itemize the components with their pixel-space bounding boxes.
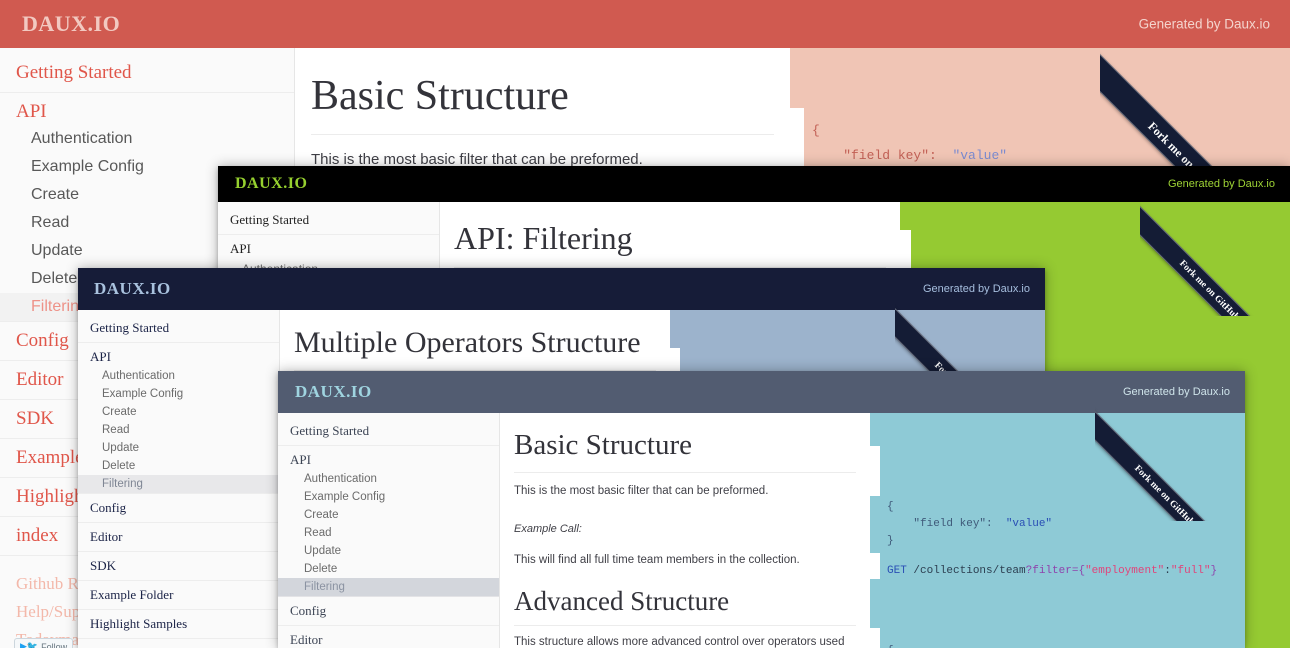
content-slate: Basic Structure This is the most basic f…: [500, 413, 870, 648]
code-line: "field key": "value": [887, 518, 1052, 530]
sidebar-label: Delete: [304, 563, 337, 575]
brand-text: DAUX.IO: [22, 11, 120, 36]
sidebar-label: Create: [304, 509, 339, 521]
sidebar-item-api[interactable]: API: [0, 93, 294, 125]
page-title: Basic Structure: [295, 48, 790, 134]
page-subtitle: Advanced Structure: [500, 566, 870, 625]
sidebar-label: API: [16, 101, 47, 122]
sidebar-label: Config: [290, 603, 326, 618]
sidebar-item-index[interactable]: index: [78, 639, 279, 648]
brand-text: DAUX.IO: [295, 382, 372, 401]
header-bar-slate: DAUX.IO Generated by Daux.io: [278, 371, 1245, 413]
sidebar-item-authentication[interactable]: Authentication: [0, 125, 294, 153]
code-rail-slate: { "field key": "value" } GET /collection…: [870, 413, 1245, 648]
code-line: }: [887, 535, 894, 547]
sidebar-label: Getting Started: [290, 423, 369, 438]
code-line: {: [887, 501, 894, 513]
sidebar-item-create[interactable]: Create: [78, 403, 279, 421]
sidebar-label: Delete: [31, 270, 77, 287]
sidebar-label: index: [16, 525, 58, 546]
header-bar-red: DAUX.IO Generated by Daux.io: [0, 0, 1290, 48]
sidebar-item-editor[interactable]: Editor: [278, 626, 499, 648]
sidebar-item-delete[interactable]: Delete: [278, 560, 499, 578]
sidebar-label: Read: [304, 527, 332, 539]
code-line: "field key": "value": [812, 148, 1007, 163]
example-call-label: Example Call:: [500, 497, 870, 535]
brand-logo[interactable]: DAUX.IO: [94, 279, 171, 299]
sidebar-item-authentication[interactable]: Authentication: [278, 470, 499, 488]
sidebar-slate[interactable]: Getting Started API Authentication Examp…: [278, 413, 500, 648]
twitter-bird-icon: ▶🐦: [20, 641, 38, 648]
header-bar-black: DAUX.IO Generated by Daux.io: [218, 166, 1290, 202]
sidebar-label: Update: [31, 242, 83, 259]
generated-by-label: Generated by Daux.io: [923, 283, 1030, 295]
sidebar-item-delete[interactable]: Delete: [78, 457, 279, 475]
sidebar-label: Filtering: [102, 478, 143, 490]
generated-by-label: Generated by Daux.io: [1123, 386, 1230, 398]
sidebar-item-read[interactable]: Read: [278, 524, 499, 542]
sidebar-item-config[interactable]: Config: [278, 597, 499, 626]
sidebar-label: Editor: [16, 369, 64, 390]
sidebar-label: Config: [90, 500, 126, 515]
intro-paragraph: This is the most basic filter that can b…: [500, 473, 870, 497]
sidebar-label: Filtering: [304, 581, 345, 593]
sidebar-item-api[interactable]: API: [78, 343, 279, 367]
sidebar-item-authentication[interactable]: Authentication: [78, 367, 279, 385]
sidebar-item-filtering[interactable]: Filtering: [78, 475, 279, 494]
screenshot-stage: DAUX.IO Generated by Daux.io Getting Sta…: [0, 0, 1290, 648]
sidebar-label: API: [90, 349, 111, 364]
sidebar-label: SDK: [16, 408, 54, 429]
sidebar-label: Read: [31, 214, 69, 231]
sidebar-label: SDK: [90, 558, 116, 573]
sidebar-label: API: [290, 452, 311, 467]
sidebar-item-example-folder[interactable]: Example Folder: [78, 581, 279, 610]
page-title: Basic Structure: [500, 413, 870, 472]
sidebar-label: Getting Started: [230, 212, 309, 227]
page-title: Multiple Operators Structure: [280, 310, 670, 370]
brand-logo[interactable]: DAUX.IO: [235, 175, 307, 193]
sidebar-label: Update: [304, 545, 341, 557]
code-block-slate: { "field key": "value" }: [887, 499, 1052, 550]
code-card-3: [870, 628, 880, 648]
sidebar-item-example-config[interactable]: Example Config: [78, 385, 279, 403]
code-line: {: [812, 123, 820, 138]
sidebar-item-config[interactable]: Config: [78, 494, 279, 523]
sidebar-item-update[interactable]: Update: [278, 542, 499, 560]
sidebar-navy[interactable]: Getting Started API Authentication Examp…: [78, 310, 280, 648]
sidebar-item-getting-started[interactable]: Getting Started: [278, 417, 499, 446]
code-card: [870, 446, 880, 496]
brand-logo[interactable]: DAUX.IO: [22, 11, 120, 37]
twitter-follow-label: Follow: [41, 642, 67, 648]
sidebar-label: Editor: [90, 529, 123, 544]
sidebar-item-example-config[interactable]: Example Config: [278, 488, 499, 506]
sidebar-label: Getting Started: [90, 320, 169, 335]
sidebar-item-editor[interactable]: Editor: [78, 523, 279, 552]
sidebar-item-create[interactable]: Create: [278, 506, 499, 524]
brand-text: DAUX.IO: [235, 175, 307, 192]
sidebar-item-filtering[interactable]: Filtering: [278, 578, 499, 597]
code-card-2: [870, 553, 880, 579]
sidebar-item-sdk[interactable]: SDK: [78, 552, 279, 581]
sidebar-label: Editor: [290, 632, 323, 647]
sidebar-item-api[interactable]: API: [218, 235, 439, 259]
sidebar-label: Read: [102, 424, 130, 436]
code-block-slate-3: {: [887, 643, 894, 648]
sidebar-label: Delete: [102, 460, 135, 472]
twitter-follow-button[interactable]: ▶🐦 Follow: [14, 638, 73, 648]
intro-paragraph-2: This structure allows more advanced cont…: [500, 626, 870, 648]
sidebar-item-getting-started[interactable]: Getting Started: [78, 314, 279, 343]
page-title: API: Filtering: [440, 202, 900, 267]
code-block-slate-get: GET /collections/team?filter={"employmen…: [887, 563, 1217, 580]
sidebar-item-api[interactable]: API: [278, 446, 499, 470]
sidebar-label: Example Config: [31, 158, 144, 175]
sidebar-item-getting-started[interactable]: Getting Started: [0, 54, 294, 93]
brand-text: DAUX.IO: [94, 279, 171, 298]
sidebar-item-getting-started[interactable]: Getting Started: [218, 206, 439, 235]
sidebar-label: Example Folder: [90, 587, 173, 602]
sidebar-label: Authentication: [102, 370, 175, 382]
browser-window-slate[interactable]: DAUX.IO Generated by Daux.io Getting Sta…: [278, 371, 1245, 648]
sidebar-label: Create: [31, 186, 79, 203]
sidebar-label: Config: [16, 330, 69, 351]
sidebar-item-update[interactable]: Update: [78, 439, 279, 457]
sidebar-label: Getting Started: [16, 62, 132, 83]
generated-by-label: Generated by Daux.io: [1139, 17, 1270, 32]
code-line: GET /collections/team?filter={"employmen…: [887, 565, 1217, 577]
sidebar-label: API: [230, 241, 251, 256]
sidebar-label: Example Config: [304, 491, 385, 503]
header-bar-navy: DAUX.IO Generated by Daux.io: [78, 268, 1045, 310]
brand-logo[interactable]: DAUX.IO: [295, 382, 372, 402]
sidebar-label: Update: [102, 442, 139, 454]
sidebar-label: Authentication: [304, 473, 377, 485]
sidebar-label: Highlight Samples: [90, 616, 187, 631]
sidebar-label: Create: [102, 406, 137, 418]
intro-paragraph: This is the most basic filter that can b…: [295, 135, 790, 168]
sidebar-label: Example Config: [102, 388, 183, 400]
generated-by-label: Generated by Daux.io: [1168, 178, 1275, 190]
code-card: [790, 108, 804, 166]
example-note: This will find all full time team member…: [500, 535, 870, 566]
sidebar-item-read[interactable]: Read: [78, 421, 279, 439]
sidebar-item-highlight-samples[interactable]: Highlight Samples: [78, 610, 279, 639]
sidebar-label: Authentication: [31, 130, 132, 147]
